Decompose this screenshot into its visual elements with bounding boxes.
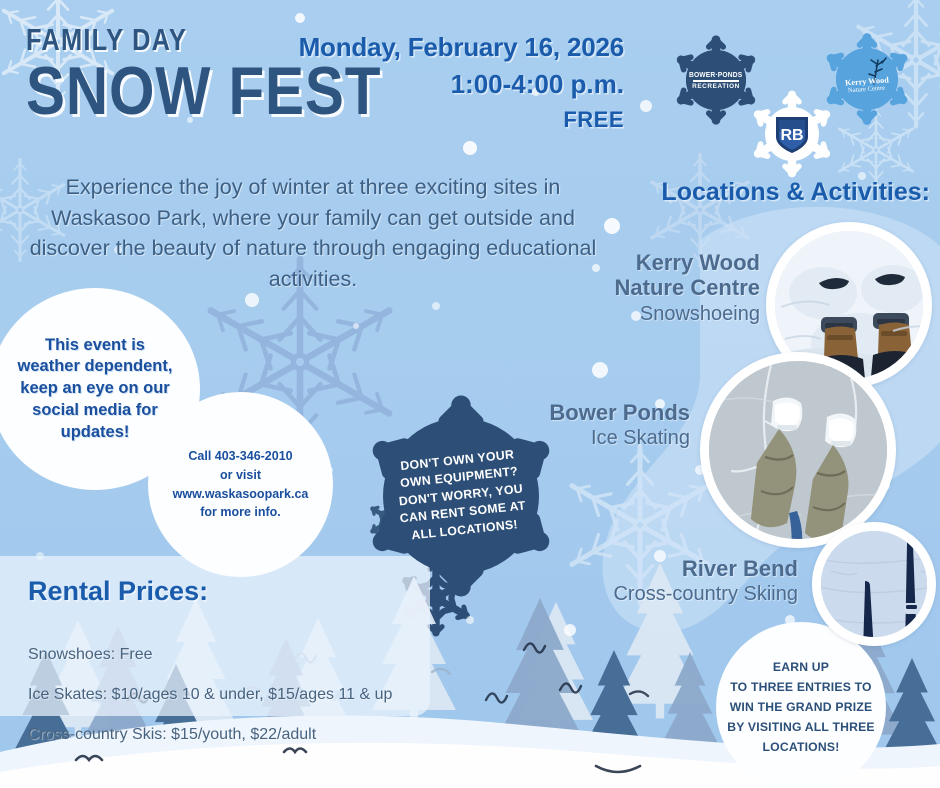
ice-skating-photo-art — [709, 361, 896, 548]
prize-line-5: LOCATIONS! — [726, 737, 876, 757]
rental-price-row: Ice Skates: $10/ages 10 & under, $15/age… — [28, 686, 392, 704]
rental-price-row: Cross-country Skis: $15/youth, $22/adult — [28, 726, 316, 744]
contact-website[interactable]: www.waskasoopark.ca — [166, 485, 316, 504]
contact-moreinfo: for more info. — [166, 503, 316, 522]
contact-phone: Call 403-346-2010 — [166, 447, 316, 466]
logo-divider — [693, 80, 739, 82]
event-price: FREE — [224, 107, 624, 133]
rental-price-row: Snowshoes: Free — [28, 646, 153, 664]
contact-info-text: Call 403-346-2010 or visit www.waskasoop… — [166, 447, 316, 522]
logo-kerry-wood-nature-centre: Kerry Wood Nature Centre — [814, 26, 920, 132]
equipment-rental-badge: DON'T OWN YOUR OWN EQUIPMENT? DON'T WORR… — [345, 380, 577, 612]
grand-prize-badge: EARN UP TO THREE ENTRIES TO WIN THE GRAN… — [716, 622, 886, 788]
location-name-line1: Kerry Wood — [615, 250, 760, 275]
photo-cross-country-skis — [812, 522, 936, 646]
rental-badge-text: DON'T OWN YOUR OWN EQUIPMENT? DON'T WORR… — [386, 445, 536, 547]
photo-ice-skates-on-ice — [700, 352, 896, 548]
location-activity: Snowshoeing — [615, 302, 760, 326]
location-entry-kerry-wood: Kerry Wood Nature Centre Snowshoeing — [615, 250, 760, 326]
prize-line-4: BY VISITING ALL THREE — [726, 717, 876, 737]
event-time: 1:00-4:00 p.m. — [224, 69, 624, 100]
prize-line-3: WIN THE GRAND PRIZE — [726, 697, 876, 717]
svg-text:RB: RB — [780, 127, 803, 144]
weather-notice-text: This event is weather dependent, keep an… — [15, 335, 175, 444]
bower-ponds-logo-line1: BOWER·PONDS — [689, 70, 742, 79]
shield-icon: RB — [773, 113, 811, 155]
kerry-wood-logo-mark: Kerry Wood Nature Centre — [836, 48, 898, 110]
event-details-block: Monday, February 16, 2026 1:00-4:00 p.m.… — [224, 32, 624, 133]
rb-shield-logo-mark: RB — [766, 108, 818, 160]
grand-prize-text: EARN UP TO THREE ENTRIES TO WIN THE GRAN… — [726, 657, 876, 758]
location-entry-river-bend: River Bend Cross-country Skiing — [613, 556, 798, 606]
locations-heading: Locations & Activities: — [661, 178, 930, 207]
rental-badge-disc: DON'T OWN YOUR OWN EQUIPMENT? DON'T WORR… — [383, 418, 539, 574]
ski-photo-art — [821, 531, 936, 646]
bower-ponds-logo-mark: BOWER·PONDS RECREATION — [686, 50, 746, 110]
bower-ponds-logo-line2: RECREATION — [692, 83, 740, 90]
event-date: Monday, February 16, 2026 — [224, 32, 624, 63]
location-name-line2: Nature Centre — [615, 275, 760, 300]
prize-line-2: TO THREE ENTRIES TO — [726, 677, 876, 697]
location-activity: Cross-country Skiing — [613, 582, 798, 606]
rental-prices-title: Rental Prices: — [28, 576, 208, 607]
contact-orvisit: or visit — [166, 466, 316, 485]
snow-fest-poster: FAMILY DAY SNOW FEST Monday, February 16… — [0, 0, 940, 788]
prize-line-1: EARN UP — [726, 657, 876, 677]
location-name-line1: River Bend — [613, 556, 798, 581]
event-description: Experience the joy of winter at three ex… — [18, 172, 608, 294]
